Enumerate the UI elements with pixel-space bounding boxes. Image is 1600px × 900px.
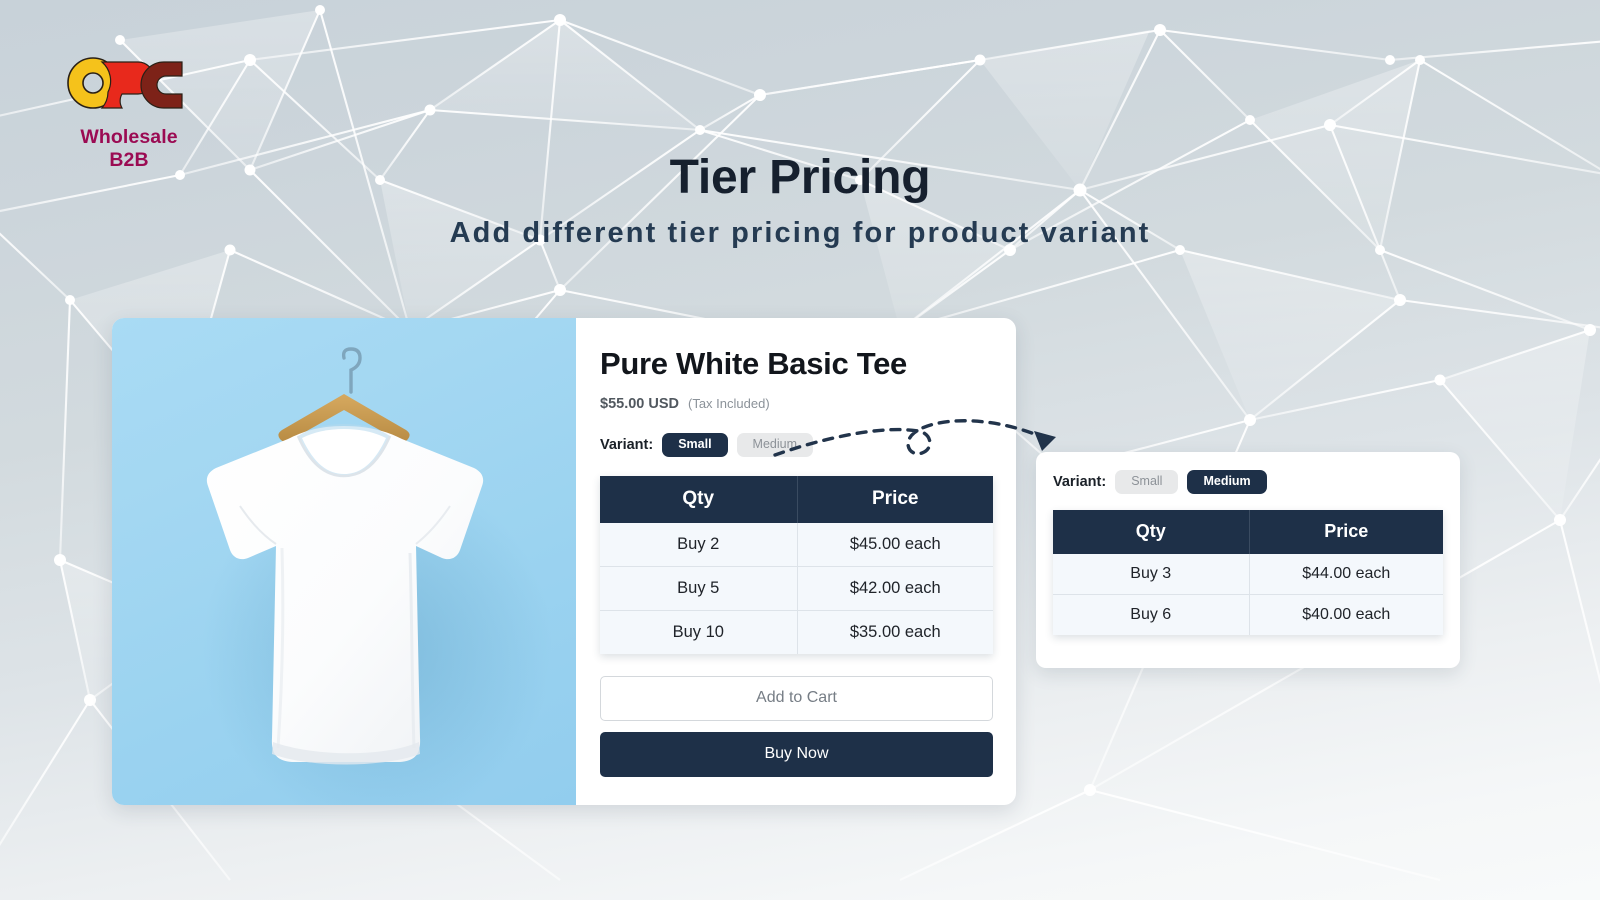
- cell-qty: Buy 6: [1053, 594, 1249, 635]
- cell-price: $40.00 each: [1249, 594, 1443, 635]
- table-header-row: Qty Price: [600, 476, 993, 523]
- page-root: Wholesale B2B Tier Pricing Add different…: [0, 0, 1600, 900]
- column-header-qty: Qty: [600, 476, 797, 523]
- osc-logo-icon: [62, 52, 196, 124]
- table-row: Buy 10 $35.00 each: [600, 610, 993, 654]
- variant-option-medium[interactable]: Medium: [737, 433, 813, 457]
- cell-qty: Buy 10: [600, 610, 797, 654]
- variant-selector: Variant: Small Medium: [600, 433, 993, 457]
- variant-label: Variant:: [1053, 474, 1106, 490]
- variant-preview-card: Variant: Small Medium Qty Price Buy 3 $4…: [1036, 452, 1460, 668]
- column-header-price: Price: [1249, 510, 1443, 554]
- product-name: Pure White Basic Tee: [600, 346, 993, 382]
- variant-option-small[interactable]: Small: [1115, 470, 1178, 494]
- page-title: Tier Pricing: [0, 150, 1600, 205]
- cell-price: $42.00 each: [797, 566, 993, 610]
- tier-pricing-table: Qty Price Buy 2 $45.00 each Buy 5 $42.00…: [600, 476, 993, 654]
- add-to-cart-button[interactable]: Add to Cart: [600, 676, 993, 721]
- buy-now-button[interactable]: Buy Now: [600, 732, 993, 777]
- table-header-row: Qty Price: [1053, 510, 1443, 554]
- product-image: [112, 318, 576, 805]
- variant-label: Variant:: [600, 437, 653, 453]
- tier-pricing-table: Qty Price Buy 3 $44.00 each Buy 6 $40.00…: [1053, 510, 1443, 635]
- cell-price: $35.00 each: [797, 610, 993, 654]
- cell-price: $45.00 each: [797, 523, 993, 567]
- variant-selector: Variant: Small Medium: [1053, 470, 1440, 494]
- variant-option-medium[interactable]: Medium: [1187, 470, 1266, 494]
- product-card: Pure White Basic Tee $55.00 USD (Tax Inc…: [112, 318, 1016, 805]
- table-row: Buy 2 $45.00 each: [600, 523, 993, 567]
- variant-option-small[interactable]: Small: [662, 433, 727, 457]
- product-info: Pure White Basic Tee $55.00 USD (Tax Inc…: [576, 318, 1016, 805]
- cell-qty: Buy 2: [600, 523, 797, 567]
- column-header-qty: Qty: [1053, 510, 1249, 554]
- product-price: $55.00 USD: [600, 396, 679, 412]
- cell-price: $44.00 each: [1249, 554, 1443, 595]
- page-subtitle: Add different tier pricing for product v…: [0, 217, 1600, 250]
- table-row: Buy 5 $42.00 each: [600, 566, 993, 610]
- product-tax-note: (Tax Included): [688, 396, 770, 411]
- price-line: $55.00 USD (Tax Included): [600, 396, 993, 412]
- cell-qty: Buy 5: [600, 566, 797, 610]
- column-header-price: Price: [797, 476, 993, 523]
- table-row: Buy 6 $40.00 each: [1053, 594, 1443, 635]
- table-row: Buy 3 $44.00 each: [1053, 554, 1443, 595]
- cell-qty: Buy 3: [1053, 554, 1249, 595]
